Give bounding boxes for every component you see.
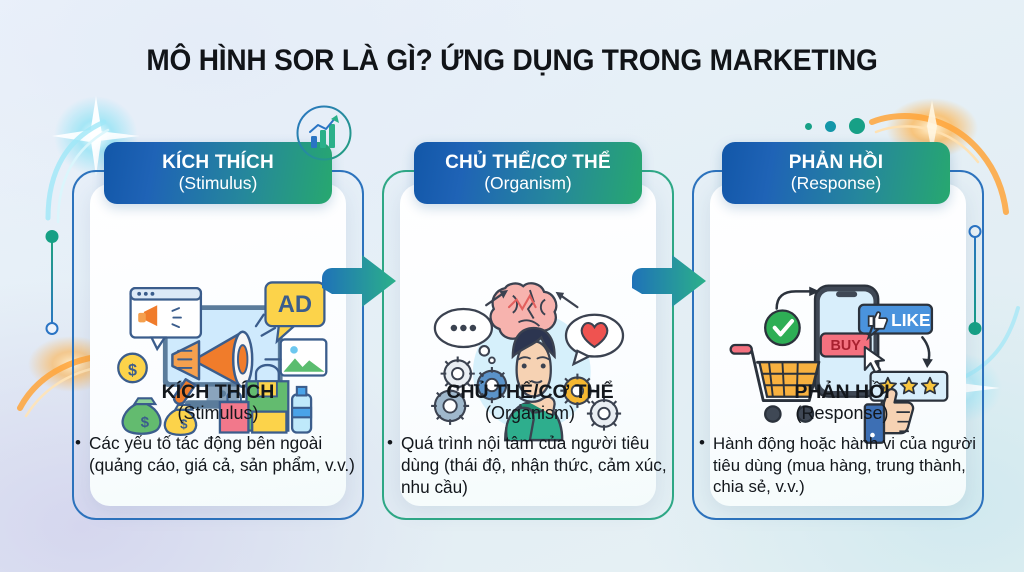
footer-bullet-list: Hành động hoặc hành vi của người tiêu dù… bbox=[692, 433, 992, 497]
grow-dot-medium bbox=[825, 121, 836, 132]
tab-response[interactable]: PHẢN HỒI (Response) bbox=[722, 142, 950, 204]
footer-heading: PHẢN HỒI (Response) bbox=[692, 382, 992, 424]
grow-dot-small bbox=[805, 123, 812, 130]
tab-subtitle: (Organism) bbox=[484, 174, 572, 193]
tab-subtitle: (Stimulus) bbox=[179, 174, 258, 193]
page-title: MÔ HÌNH SOR LÀ GÌ? ỨNG DỤNG TRONG MARKET… bbox=[26, 44, 999, 78]
list-item: Các yếu tố tác động bên ngoài (quảng cáo… bbox=[89, 433, 368, 477]
footer-heading: KÍCH THÍCH (Stimulus) bbox=[68, 382, 368, 424]
tab-title: PHẢN HỒI bbox=[789, 153, 884, 174]
tab-subtitle: (Response) bbox=[791, 174, 881, 193]
list-item: Hành động hoặc hành vi của người tiêu dù… bbox=[713, 433, 992, 497]
footer-title: PHẢN HỒI bbox=[794, 381, 889, 403]
tab-title: KÍCH THÍCH bbox=[162, 153, 274, 174]
footer-title: CHỦ THỂ/CƠ THỂ bbox=[446, 381, 613, 403]
bar-chart-growth-icon bbox=[295, 104, 353, 162]
like-label: LIKE bbox=[891, 310, 930, 330]
buy-label: BUY bbox=[831, 338, 862, 354]
footer-response: PHẢN HỒI (Response) Hành động hoặc hành … bbox=[692, 382, 992, 497]
dot-line-stalk bbox=[51, 237, 53, 328]
infographic-canvas: MÔ HÌNH SOR LÀ GÌ? ỨNG DỤNG TRONG MARKET… bbox=[0, 0, 1024, 572]
dot-line-top-dot bbox=[45, 230, 58, 243]
footer-organism: CHỦ THỂ/CƠ THỂ (Organism) Quá trình nội … bbox=[380, 382, 680, 499]
decorative-dot-line-left bbox=[45, 230, 58, 335]
flow-arrow-stimulus-to-organism-icon bbox=[322, 253, 396, 307]
footer-bullet-list: Các yếu tố tác động bên ngoài (quảng cáo… bbox=[68, 433, 368, 477]
tab-title: CHỦ THỂ/CƠ THỂ bbox=[445, 153, 611, 174]
decorative-grow-dots bbox=[805, 118, 865, 134]
footer-subtitle: (Response) bbox=[692, 404, 992, 424]
list-item: Quá trình nội tâm của người tiêu dùng (t… bbox=[401, 433, 680, 499]
flow-arrow-organism-to-response-icon bbox=[632, 253, 706, 307]
footer-title: KÍCH THÍCH bbox=[162, 381, 275, 403]
footer-heading: CHỦ THỂ/CƠ THỂ (Organism) bbox=[380, 382, 680, 424]
dot-line-bottom-dot bbox=[45, 322, 58, 335]
svg-text:AD: AD bbox=[278, 291, 312, 318]
footer-bullet-list: Quá trình nội tâm của người tiêu dùng (t… bbox=[380, 433, 680, 499]
footer-subtitle: (Stimulus) bbox=[68, 404, 368, 424]
grow-dot-large bbox=[849, 118, 865, 134]
tab-organism[interactable]: CHỦ THỂ/CƠ THỂ (Organism) bbox=[414, 142, 642, 204]
svg-text:$: $ bbox=[128, 362, 137, 380]
footer-subtitle: (Organism) bbox=[380, 404, 680, 424]
footer-stimulus: KÍCH THÍCH (Stimulus) Các yếu tố tác độn… bbox=[68, 382, 368, 477]
